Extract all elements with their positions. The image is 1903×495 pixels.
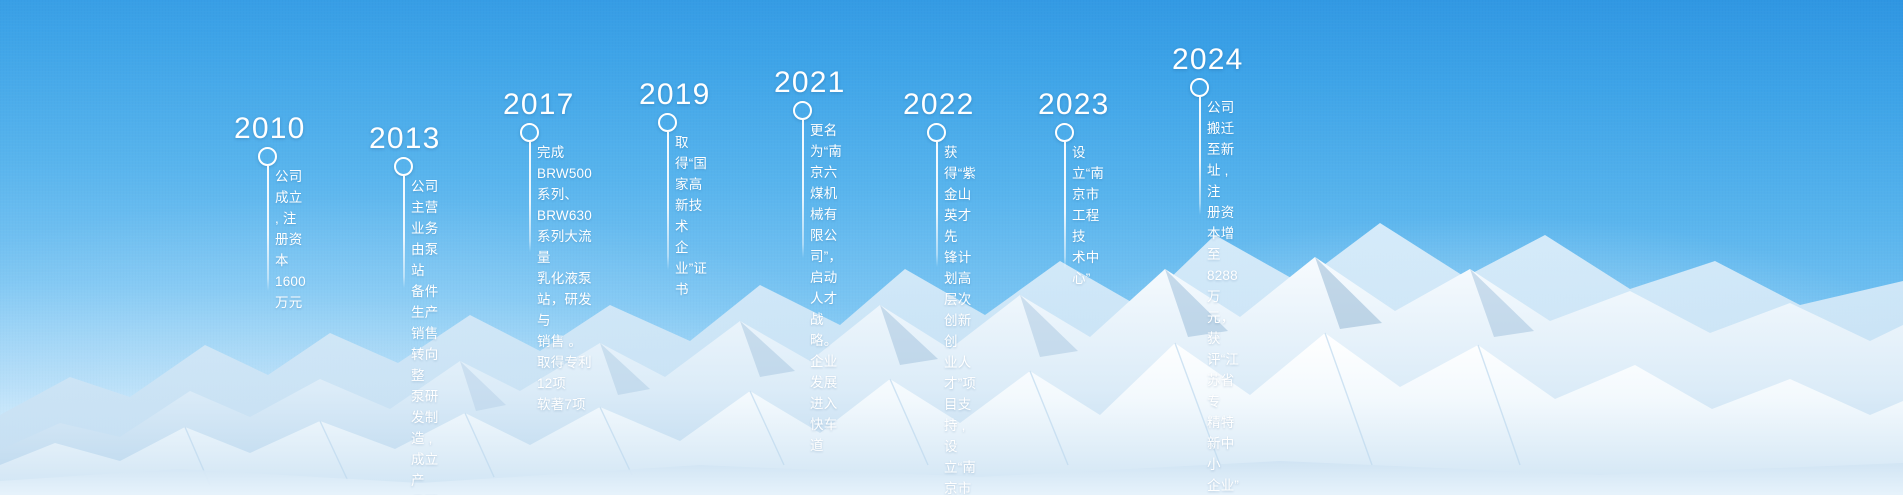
timeline-circle-marker-icon[interactable]: [520, 123, 539, 142]
timeline-circle-marker-icon[interactable]: [394, 157, 413, 176]
timeline-stem-line: [936, 142, 938, 267]
timeline-description: 完成BRW500系列、 BRW630系列大流量 乳化液泵站，研发与 销售 。取得…: [537, 142, 592, 415]
timeline-stem-line: [403, 176, 405, 288]
timeline-banner: 2010公司成立 , 注册资本 1600万元2013公司主营业务由泵站 备件生产…: [0, 0, 1903, 495]
timeline-circle-marker-icon[interactable]: [1190, 78, 1209, 97]
timeline-year-label: 2023: [1038, 88, 1110, 122]
timeline-stem-line: [1199, 97, 1201, 215]
timeline-stem-line: [529, 142, 531, 252]
timeline-description: 更名为“南京六煤机 械有限公司”，启动 人才战略。企业发展 进入快车道: [810, 120, 842, 456]
timeline-year-label: 2021: [774, 66, 846, 100]
timeline-description: 设立“南京市工程技 术中心”: [1072, 142, 1104, 289]
timeline-year-label: 2019: [639, 78, 711, 112]
timeline-layer: 2010公司成立 , 注册资本 1600万元2013公司主营业务由泵站 备件生产…: [0, 0, 1903, 495]
timeline-stem-line: [1064, 142, 1066, 270]
timeline-year-label: 2010: [234, 112, 306, 146]
timeline-stem-line: [667, 132, 669, 270]
timeline-year-label: 2024: [1172, 43, 1244, 77]
timeline-circle-marker-icon[interactable]: [1055, 123, 1074, 142]
timeline-year-label: 2017: [503, 88, 575, 122]
timeline-year-label: 2022: [903, 88, 975, 122]
timeline-description: 公司成立 , 注册资本 1600万元: [275, 166, 306, 313]
timeline-stem-line: [802, 120, 804, 258]
timeline-stem-line: [267, 166, 269, 291]
timeline-description: 公司搬迁至新址 , 注 册资本增至8288万 元，获评“江苏省专 精特新中小 企…: [1207, 97, 1239, 495]
timeline-description: 公司主营业务由泵站 备件生产销售转向整 泵研发制造 , 成立产 品研发中心.公司…: [411, 176, 442, 495]
timeline-circle-marker-icon[interactable]: [258, 147, 277, 166]
timeline-circle-marker-icon[interactable]: [658, 113, 677, 132]
timeline-circle-marker-icon[interactable]: [793, 101, 812, 120]
timeline-year-label: 2013: [369, 122, 441, 156]
timeline-description: 取得“国家高新技术 企业”证书: [675, 132, 707, 300]
timeline-circle-marker-icon[interactable]: [927, 123, 946, 142]
timeline-description: 获得“紫金山英才先 锋计划高层次创新创 业人才”项目支持 , 设立“南京市企业专…: [944, 142, 976, 495]
